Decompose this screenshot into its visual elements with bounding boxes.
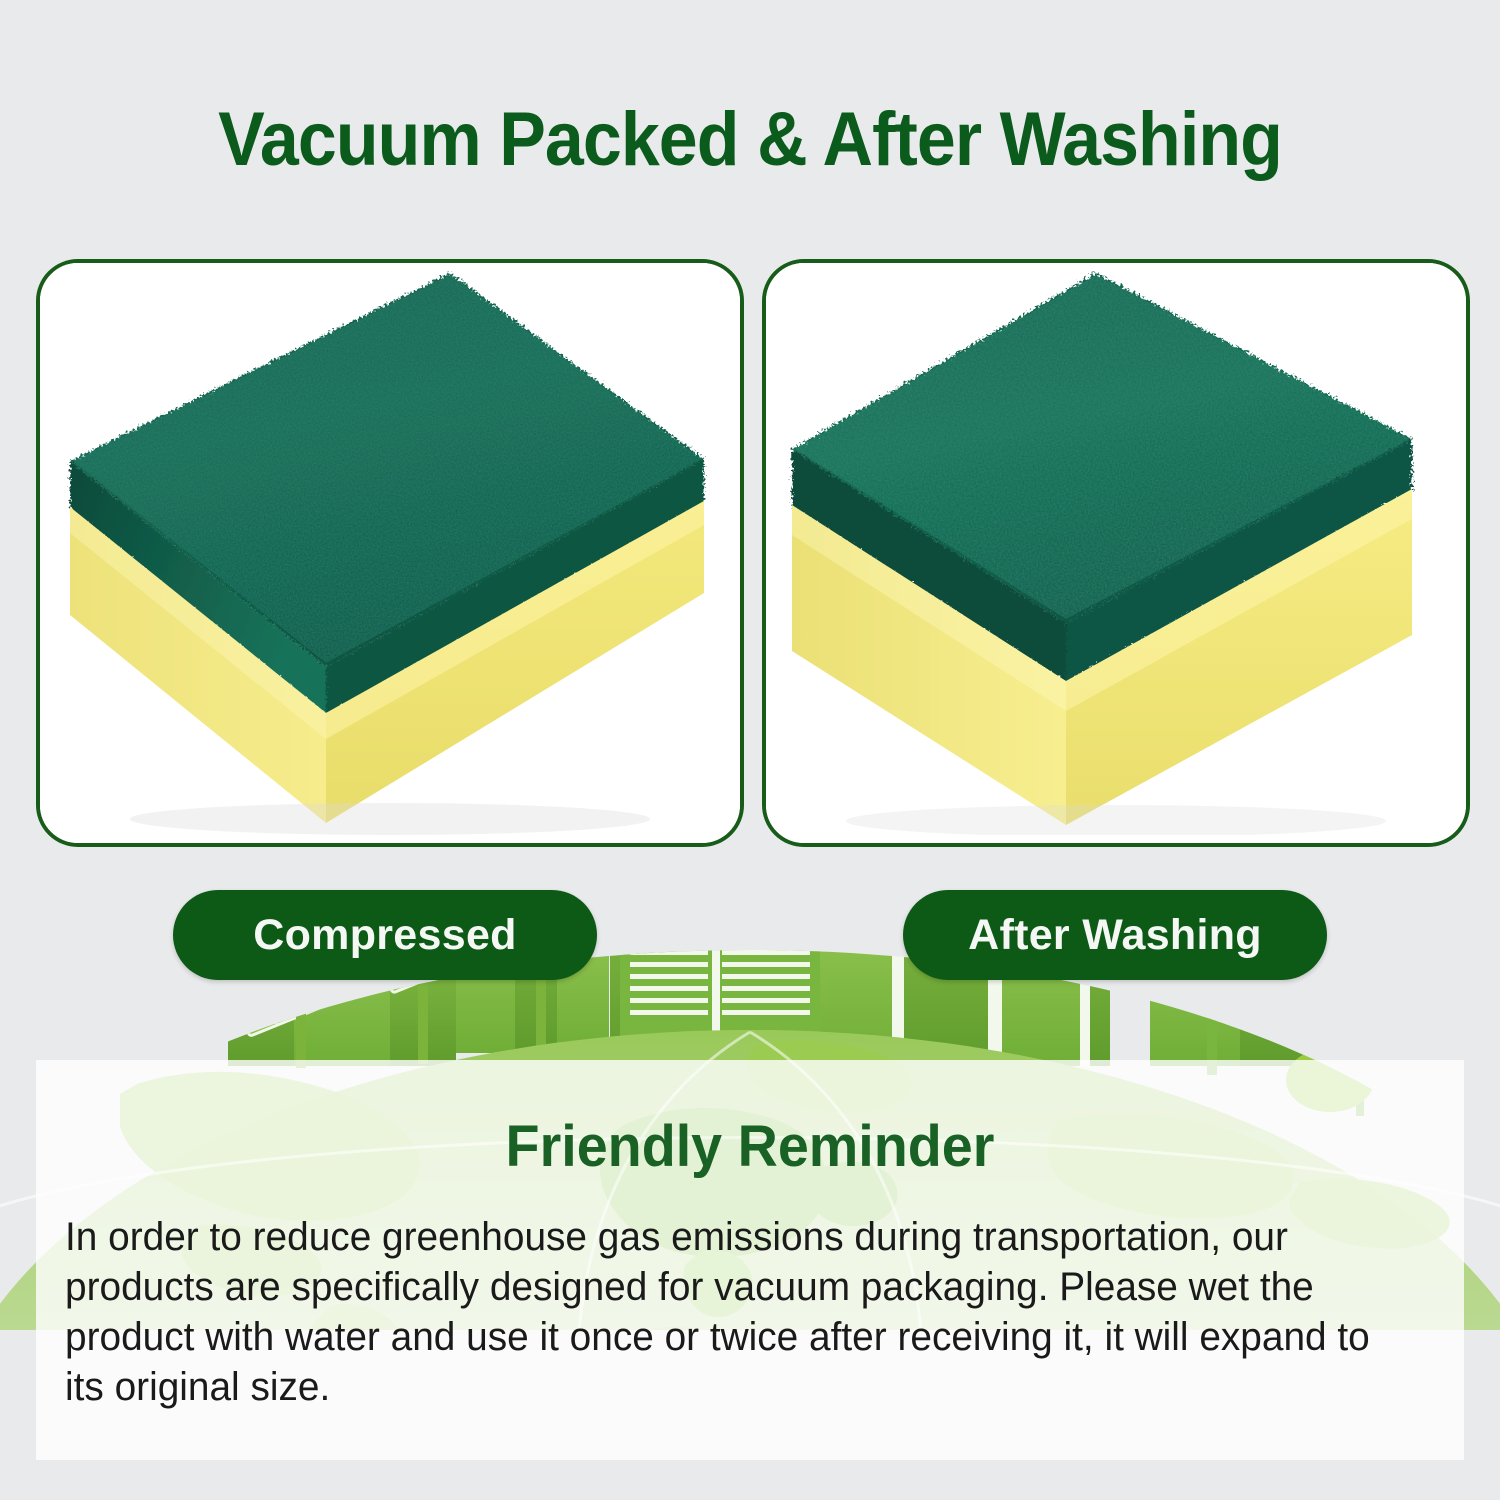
friendly-reminder-panel: Friendly Reminder In order to reduce gre…	[36, 1060, 1464, 1460]
after-washing-photo-frame	[762, 259, 1470, 847]
compressed-sponge-photo	[40, 263, 740, 843]
compressed-photo-frame	[36, 259, 744, 847]
friendly-reminder-body: In order to reduce greenhouse gas emissi…	[65, 1212, 1398, 1412]
expanded-sponge-photo	[766, 263, 1466, 843]
friendly-reminder-heading: Friendly Reminder	[65, 1113, 1436, 1180]
infographic-stage: Vacuum Packed & After Washing	[0, 0, 1500, 1500]
page-title: Vacuum Packed & After Washing	[60, 96, 1440, 183]
label-compressed[interactable]: Compressed	[173, 890, 597, 980]
label-after-washing[interactable]: After Washing	[903, 890, 1327, 980]
